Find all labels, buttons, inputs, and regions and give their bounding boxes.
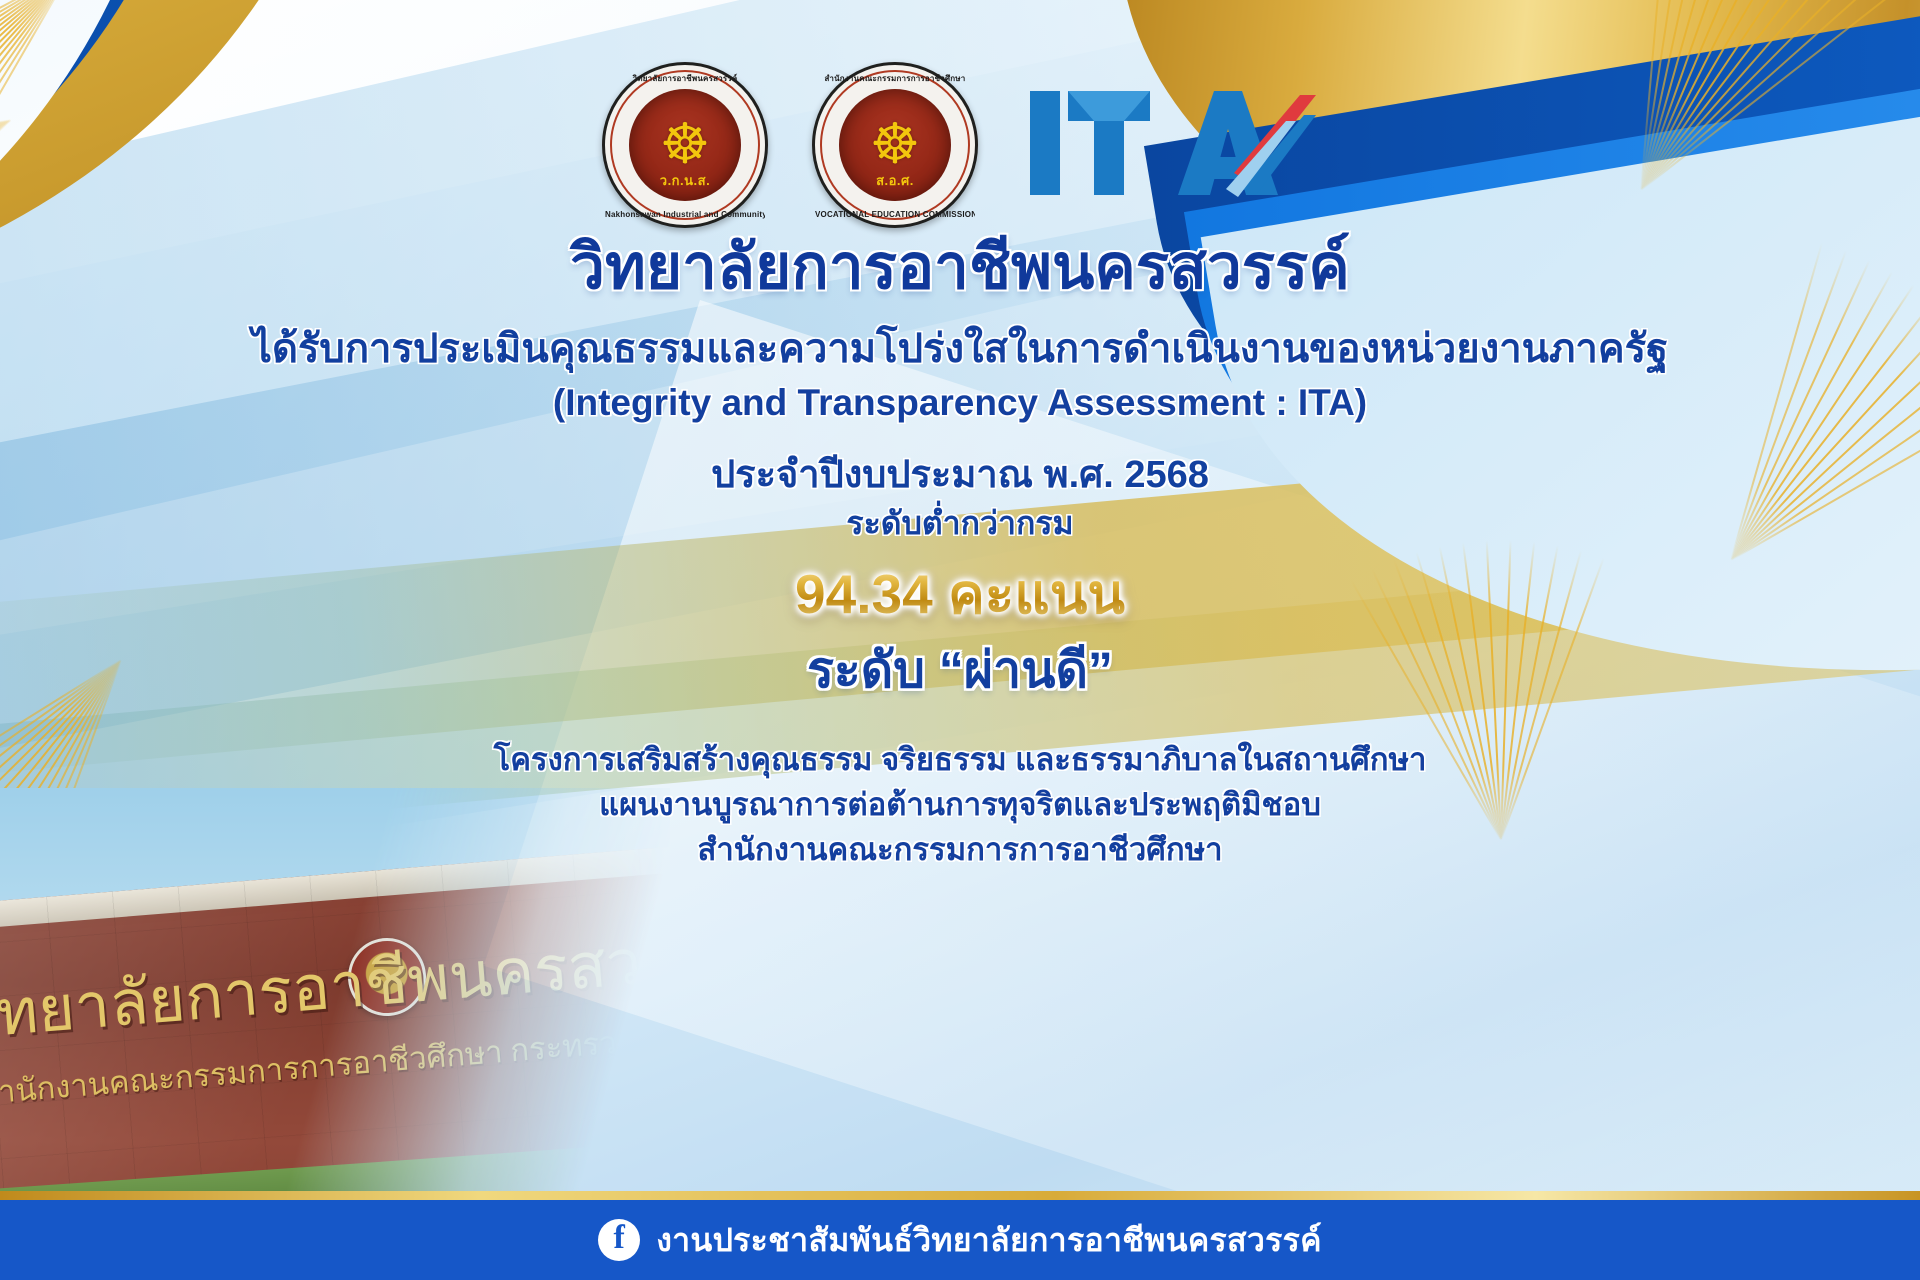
vec-seal-logo: สำนักงานคณะกรรมการการอาชีวศึกษา ☸ ส.อ.ศ.… (812, 62, 978, 228)
grade-badge: ระดับ “ผ่านดี” (0, 645, 1920, 695)
ita-logo: ITA (1028, 77, 1318, 207)
vec-seal-arc-bottom: VOCATIONAL EDUCATION COMMISSION (815, 210, 975, 219)
project-line-2: แผนงานบูรณาการต่อต้านการทุจริตและประพฤติ… (0, 783, 1920, 828)
college-seal-arc-bottom: Nakhonsawan Industrial and Community Edu… (605, 210, 765, 219)
level-scope-label: ระดับต่ำกว่ากรม (0, 498, 1920, 549)
assessment-line-thai: ได้รับการประเมินคุณธรรมและความโปร่งใสในก… (0, 327, 1920, 372)
footer-gold-divider (0, 1191, 1920, 1200)
logo-row: วิทยาลัยการอาชีพนครสวรรค์ ☸ ว.ก.น.ส. Nak… (0, 62, 1920, 228)
fiscal-year-label: ประจำปีงบประมาณ พ.ศ. 2568 (0, 443, 1920, 504)
facebook-icon[interactable]: f (598, 1219, 640, 1261)
college-seal-logo: วิทยาลัยการอาชีพนครสวรรค์ ☸ ว.ก.น.ส. Nak… (602, 62, 768, 228)
dharma-wheel-icon: ☸ (870, 116, 920, 172)
project-info: โครงการเสริมสร้างคุณธรรม จริยธรรม และธรร… (0, 738, 1920, 873)
project-line-1: โครงการเสริมสร้างคุณธรรม จริยธรรม และธรร… (0, 738, 1920, 783)
project-line-3: สำนักงานคณะกรรมการการอาชีวศึกษา (0, 828, 1920, 873)
dharma-wheel-icon: ☸ (660, 116, 710, 172)
college-seal-abbr: ว.ก.น.ส. (605, 170, 765, 191)
college-seal-arc-top: วิทยาลัยการอาชีพนครสวรรค์ (605, 72, 765, 85)
footer-bar: f งานประชาสัมพันธ์วิทยาลัยการอาชีพนครสวร… (0, 1200, 1920, 1280)
facebook-glyph: f (614, 1221, 625, 1255)
facebook-page-name: งานประชาสัมพันธ์วิทยาลัยการอาชีพนครสวรรค… (656, 1215, 1322, 1266)
vec-seal-arc-top: สำนักงานคณะกรรมการการอาชีวศึกษา (815, 72, 975, 85)
assessment-line-english: (Integrity and Transparency Assessment :… (0, 382, 1920, 425)
ita-award-poster: วิทยาลัยการอาชีพนครสวรรค์ สำนักงานคณะกรร… (0, 0, 1920, 1280)
score-value: 94.34 คะแนน (0, 567, 1920, 622)
page-title: วิทยาลัยการอาชีพนครสวรรค์ (0, 237, 1920, 299)
ita-logo-icon: ITA (1028, 77, 1318, 207)
vec-seal-abbr: ส.อ.ศ. (815, 170, 975, 191)
